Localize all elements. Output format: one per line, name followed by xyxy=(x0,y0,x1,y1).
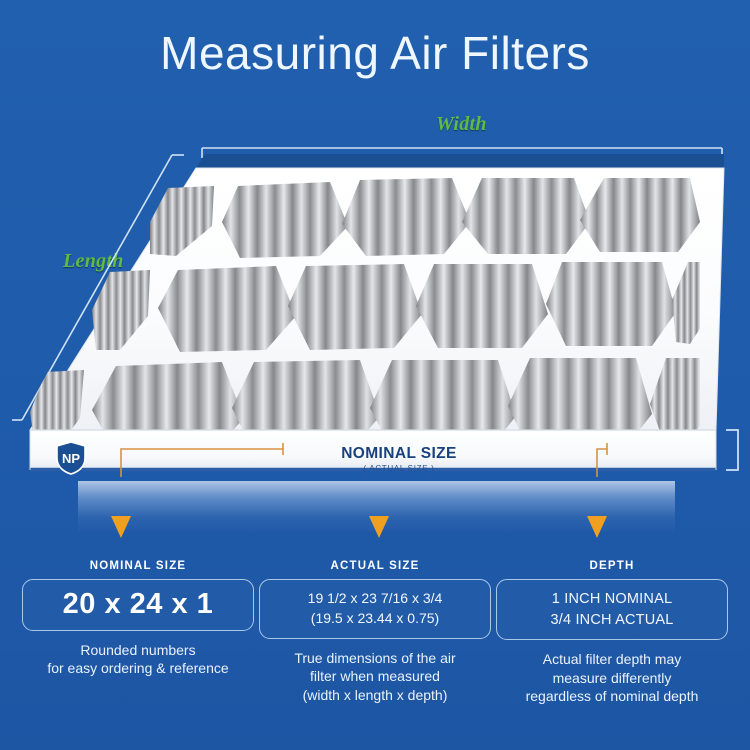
card-header: NOMINAL SIZE xyxy=(22,560,254,572)
card-value-line: 19 1/2 x 23 7/16 x 3/4 xyxy=(308,589,443,609)
card-caption-line: for easy ordering & reference xyxy=(22,659,254,677)
leader-depth xyxy=(597,443,607,477)
arrow-nominal-size xyxy=(111,516,131,538)
card-caption: Actual filter depth may measure differen… xyxy=(496,650,728,705)
card-caption-line: (width x length x depth) xyxy=(259,686,491,704)
arrow-actual-size xyxy=(369,516,389,538)
filter-svg xyxy=(0,130,750,480)
card-value-line: 20 x 24 x 1 xyxy=(63,589,214,621)
card-value-line: 3/4 INCH ACTUAL xyxy=(550,610,673,631)
infographic-canvas: Measuring Air Filters Width Length Depth xyxy=(0,0,750,750)
leader-nominal-size xyxy=(121,443,283,477)
card-value-line: 1 INCH NOMINAL xyxy=(552,589,672,610)
callout-leaders xyxy=(0,430,750,560)
card-caption-line: measure differently xyxy=(496,669,728,687)
card-value-line: (19.5 x 23.44 x 0.75) xyxy=(311,609,439,629)
card-caption-line: Actual filter depth may xyxy=(496,650,728,668)
card-value-box: 1 INCH NOMINAL 3/4 INCH ACTUAL xyxy=(496,579,728,640)
card-value-box: 19 1/2 x 23 7/16 x 3/4 (19.5 x 23.44 x 0… xyxy=(259,579,491,639)
card-value-box: 20 x 24 x 1 xyxy=(22,579,254,631)
card-depth: DEPTH 1 INCH NOMINAL 3/4 INCH ACTUAL Act… xyxy=(496,560,728,750)
card-header: ACTUAL SIZE xyxy=(259,560,491,572)
filter-back-edge xyxy=(196,154,724,168)
card-nominal-size: NOMINAL SIZE 20 x 24 x 1 Rounded numbers… xyxy=(22,560,254,750)
card-actual-size: ACTUAL SIZE 19 1/2 x 23 7/16 x 3/4 (19.5… xyxy=(259,560,491,750)
card-caption-line: Rounded numbers xyxy=(22,641,254,659)
page-title: Measuring Air Filters xyxy=(0,26,750,80)
card-caption-line: regardless of nominal depth xyxy=(496,687,728,705)
air-filter-illustration xyxy=(0,130,750,480)
card-caption-line: True dimensions of the air xyxy=(259,649,491,667)
card-caption: True dimensions of the air filter when m… xyxy=(259,649,491,704)
card-caption-line: filter when measured xyxy=(259,667,491,685)
info-cards: NOMINAL SIZE 20 x 24 x 1 Rounded numbers… xyxy=(0,560,750,750)
arrow-depth xyxy=(587,516,607,538)
card-header: DEPTH xyxy=(496,560,728,572)
card-caption: Rounded numbers for easy ordering & refe… xyxy=(22,641,254,678)
